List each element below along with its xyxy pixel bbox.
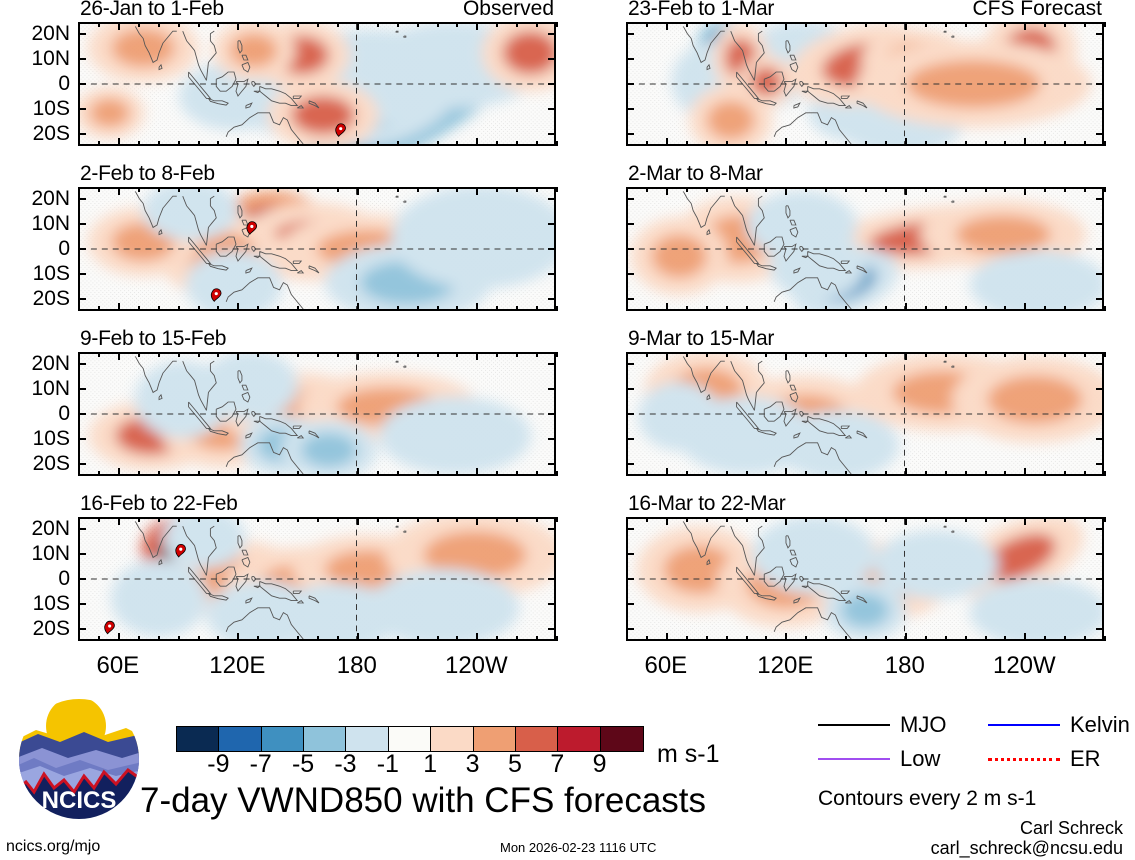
axis-tick <box>626 578 634 580</box>
axis-tick <box>1064 306 1066 311</box>
axis-tick <box>198 141 200 146</box>
axis-tick <box>277 22 279 27</box>
axis-tick <box>825 187 827 192</box>
axis-tick <box>626 133 634 135</box>
y-axis-tick-label: 20S <box>33 453 70 474</box>
axis-tick <box>357 468 359 476</box>
axis-tick <box>706 517 708 522</box>
axis-tick <box>885 306 887 311</box>
y-axis-tick-label: 20S <box>33 288 70 309</box>
panel-title: 2-Feb to 8-Feb <box>80 163 215 184</box>
axis-tick <box>78 578 86 580</box>
colorbar-tick-label: 5 <box>508 750 522 778</box>
axis-tick <box>397 352 399 357</box>
axis-tick <box>297 471 299 476</box>
ncics-logo-text: NCICS <box>42 787 117 814</box>
y-axis-tick-label: 20N <box>31 188 70 209</box>
y-axis-tick-label: 20N <box>31 23 70 44</box>
axis-tick <box>985 187 987 192</box>
axis-tick <box>746 306 748 311</box>
axis-tick <box>98 141 100 146</box>
axis-tick <box>556 517 558 522</box>
axis-tick <box>845 636 847 641</box>
axis-tick <box>785 517 787 525</box>
panel-obs-3: 9-Feb to 15-Feb <box>78 352 556 476</box>
axis-tick <box>1096 273 1104 275</box>
axis-tick <box>297 141 299 146</box>
axis-tick <box>666 517 668 525</box>
axis-tick <box>746 352 748 357</box>
axis-tick <box>78 133 86 135</box>
axis-tick <box>1084 306 1086 311</box>
colorbar-tick-label: 9 <box>593 750 607 778</box>
axis-tick <box>536 517 538 522</box>
axis-tick <box>925 517 927 522</box>
axis-tick <box>1096 198 1104 200</box>
axis-tick <box>397 636 399 641</box>
axis-tick <box>1044 517 1046 522</box>
axis-tick <box>945 22 947 27</box>
y-axis-tick-label: 20S <box>33 618 70 639</box>
axis-tick <box>317 22 319 27</box>
x-axis-tick-label: 60E <box>96 653 139 679</box>
axis-tick <box>1084 352 1086 357</box>
axis-tick <box>78 388 86 390</box>
axis-tick <box>118 138 120 146</box>
axis-tick <box>548 133 556 135</box>
panel-fcst-3: 9-Mar to 15-Mar <box>626 352 1104 476</box>
axis-tick <box>785 633 787 641</box>
axis-tick <box>496 306 498 311</box>
axis-tick <box>536 636 538 641</box>
axis-tick <box>1004 517 1006 522</box>
y-axis-tick-label: 20N <box>31 353 70 374</box>
x-axis-labels: 60E120E180120W <box>78 653 556 679</box>
axis-tick <box>476 138 478 146</box>
axis-tick <box>98 22 100 27</box>
axis-tick <box>548 58 556 60</box>
axis-tick <box>556 471 558 476</box>
axis-tick <box>1044 352 1046 357</box>
axis-tick <box>437 517 439 522</box>
axis-tick <box>337 517 339 522</box>
colorbar-segment <box>304 727 346 751</box>
axis-tick <box>78 223 86 225</box>
axis-tick <box>905 352 907 360</box>
axis-tick <box>905 303 907 311</box>
axis-tick <box>548 33 556 35</box>
axis-tick <box>1096 298 1104 300</box>
axis-tick <box>825 517 827 522</box>
axis-tick <box>666 303 668 311</box>
axis-tick <box>417 306 419 311</box>
axis-tick <box>1084 22 1086 27</box>
axis-tick <box>706 22 708 27</box>
axis-tick <box>237 187 239 195</box>
axis-tick <box>548 553 556 555</box>
panel-fcst-2: 2-Mar to 8-Mar <box>626 187 1104 311</box>
author-email: carl_schreck@ncsu.edu <box>931 838 1123 858</box>
axis-tick <box>496 636 498 641</box>
axis-tick <box>337 636 339 641</box>
axis-tick <box>178 306 180 311</box>
axis-tick <box>548 628 556 630</box>
axis-tick <box>1096 33 1104 35</box>
axis-tick <box>765 22 767 27</box>
axis-tick <box>1004 471 1006 476</box>
axis-tick <box>456 22 458 27</box>
axis-tick <box>548 108 556 110</box>
colorbar-segment <box>558 727 600 751</box>
axis-tick <box>1104 352 1106 357</box>
panel-title: 26-Jan to 1-Feb <box>80 0 224 19</box>
axis-tick <box>626 248 634 250</box>
axis-tick <box>1064 22 1066 27</box>
axis-tick <box>237 22 239 30</box>
legend-label: MJO <box>900 714 946 736</box>
map-area <box>626 517 1104 641</box>
axis-tick <box>78 33 86 35</box>
axis-tick <box>548 223 556 225</box>
axis-tick <box>765 187 767 192</box>
axis-tick <box>666 187 668 195</box>
axis-tick <box>1084 141 1086 146</box>
axis-tick <box>1064 636 1066 641</box>
axis-tick <box>78 471 80 476</box>
axis-tick <box>556 352 558 357</box>
axis-tick <box>965 636 967 641</box>
axis-tick <box>337 306 339 311</box>
axis-tick <box>1096 223 1104 225</box>
colorbar-segment <box>177 727 219 751</box>
axis-tick <box>885 517 887 522</box>
axis-tick <box>905 468 907 476</box>
map-area <box>78 352 556 476</box>
axis-tick <box>1024 187 1026 195</box>
axis-tick <box>805 22 807 27</box>
axis-tick <box>198 22 200 27</box>
axis-tick <box>726 471 728 476</box>
axis-tick <box>476 22 478 30</box>
axis-tick <box>317 471 319 476</box>
axis-tick <box>1096 363 1104 365</box>
axis-tick <box>277 352 279 357</box>
axis-tick <box>456 471 458 476</box>
x-axis-labels: 60E120E180120W <box>626 653 1104 679</box>
axis-tick <box>1044 471 1046 476</box>
axis-tick <box>1096 528 1104 530</box>
axis-tick <box>237 468 239 476</box>
axis-tick <box>217 141 219 146</box>
axis-tick <box>805 352 807 357</box>
axis-tick <box>1004 141 1006 146</box>
map-field <box>80 519 554 639</box>
legend-item-kelvin-x2: Kelvin x2 <box>988 714 1135 736</box>
axis-tick <box>98 352 100 357</box>
axis-tick <box>78 352 80 357</box>
axis-tick <box>925 636 927 641</box>
axis-tick <box>626 517 628 522</box>
axis-tick <box>825 471 827 476</box>
axis-tick <box>417 187 419 192</box>
y-axis-tick-label: 10N <box>31 48 70 69</box>
colorbar-tick-label: -5 <box>292 750 314 778</box>
axis-tick <box>726 636 728 641</box>
colorbar-segment <box>262 727 304 751</box>
axis-tick <box>785 352 787 360</box>
axis-tick <box>985 471 987 476</box>
axis-tick <box>496 22 498 27</box>
axis-tick <box>437 352 439 357</box>
axis-tick <box>905 138 907 146</box>
axis-tick <box>965 22 967 27</box>
axis-tick <box>516 187 518 192</box>
axis-tick <box>925 22 927 27</box>
axis-tick <box>865 22 867 27</box>
axis-tick <box>536 471 538 476</box>
axis-tick <box>556 636 558 641</box>
axis-tick <box>925 471 927 476</box>
axis-tick <box>865 471 867 476</box>
legend-label: Kelvin x2 <box>1070 714 1135 736</box>
axis-tick <box>626 413 634 415</box>
axis-tick <box>985 636 987 641</box>
axis-tick <box>118 303 120 311</box>
axis-tick <box>417 636 419 641</box>
axis-tick <box>357 352 359 360</box>
axis-tick <box>397 471 399 476</box>
x-axis-tick-label: 180 <box>337 653 377 679</box>
axis-tick <box>845 471 847 476</box>
axis-tick <box>257 636 259 641</box>
colorbar <box>176 726 644 752</box>
axis-tick <box>257 306 259 311</box>
axis-tick <box>666 138 668 146</box>
axis-tick <box>476 303 478 311</box>
axis-tick <box>78 273 86 275</box>
axis-tick <box>357 22 359 30</box>
axis-tick <box>496 187 498 192</box>
axis-tick <box>1044 306 1046 311</box>
axis-tick <box>905 517 907 525</box>
colorbar-tick-label: 3 <box>466 750 480 778</box>
author-name: Carl Schreck <box>1020 818 1123 838</box>
axis-tick <box>945 306 947 311</box>
axis-tick <box>78 413 86 415</box>
axis-tick <box>805 471 807 476</box>
axis-tick <box>397 187 399 192</box>
axis-tick <box>646 517 648 522</box>
panel-title: 9-Mar to 15-Mar <box>628 328 774 349</box>
axis-tick <box>825 352 827 357</box>
axis-tick <box>1104 636 1106 641</box>
axis-tick <box>138 187 140 192</box>
axis-tick <box>965 306 967 311</box>
axis-tick <box>765 141 767 146</box>
axis-tick <box>516 141 518 146</box>
axis-tick <box>456 187 458 192</box>
axis-tick <box>646 187 648 192</box>
y-axis-tick-label: 20S <box>33 123 70 144</box>
y-axis-tick-label: 10S <box>33 428 70 449</box>
axis-tick <box>1044 187 1046 192</box>
legend-label: Low <box>900 748 940 770</box>
axis-tick <box>437 22 439 27</box>
colorbar-segment <box>389 727 431 751</box>
axis-tick <box>536 187 538 192</box>
axis-tick <box>1024 352 1026 360</box>
axis-tick <box>377 352 379 357</box>
axis-tick <box>845 306 847 311</box>
axis-tick <box>1096 83 1104 85</box>
axis-tick <box>138 636 140 641</box>
axis-tick <box>138 306 140 311</box>
map-area <box>78 22 556 146</box>
axis-tick <box>666 468 668 476</box>
x-axis-tick-label: 120E <box>757 653 813 679</box>
axis-tick <box>78 83 86 85</box>
axis-tick <box>297 22 299 27</box>
axis-tick <box>626 352 628 357</box>
axis-tick <box>536 306 538 311</box>
axis-tick <box>626 388 634 390</box>
axis-tick <box>476 352 478 360</box>
timestamp: Mon 2026-02-23 1116 UTC <box>500 840 656 855</box>
colorbar-segment <box>601 727 643 751</box>
y-axis-labels: 20N10N010S20S <box>12 22 70 146</box>
map-field <box>628 24 1102 144</box>
y-axis-tick-label: 20N <box>31 518 70 539</box>
legend-item-low: Low <box>818 748 940 770</box>
axis-tick <box>1064 141 1066 146</box>
axis-tick <box>456 352 458 357</box>
axis-tick <box>456 517 458 522</box>
axis-tick <box>417 352 419 357</box>
axis-tick <box>865 352 867 357</box>
axis-tick <box>377 187 379 192</box>
axis-tick <box>536 22 538 27</box>
axis-tick <box>726 22 728 27</box>
axis-tick <box>548 83 556 85</box>
axis-tick <box>1096 578 1104 580</box>
axis-tick <box>198 306 200 311</box>
y-axis-tick-label: 0 <box>58 568 70 589</box>
axis-tick <box>217 187 219 192</box>
axis-tick <box>337 141 339 146</box>
main-title: 7-day VWND850 with CFS forecasts <box>140 782 706 820</box>
panel-obs-4: 16-Feb to 22-Feb <box>78 517 556 641</box>
axis-tick <box>865 636 867 641</box>
axis-tick <box>626 363 634 365</box>
axis-tick <box>536 141 538 146</box>
axis-tick <box>476 633 478 641</box>
colorbar-tick-label: 1 <box>423 750 437 778</box>
axis-tick <box>257 187 259 192</box>
axis-tick <box>1004 187 1006 192</box>
axis-tick <box>765 517 767 522</box>
axis-tick <box>905 633 907 641</box>
x-axis-tick-label: 120E <box>209 653 265 679</box>
axis-tick <box>198 517 200 522</box>
axis-tick <box>785 468 787 476</box>
y-axis-tick-label: 10N <box>31 213 70 234</box>
axis-tick <box>925 306 927 311</box>
axis-tick <box>297 306 299 311</box>
axis-tick <box>1096 603 1104 605</box>
axis-tick <box>1096 58 1104 60</box>
axis-tick <box>158 187 160 192</box>
axis-tick <box>626 223 634 225</box>
axis-tick <box>1104 22 1106 27</box>
axis-tick <box>277 517 279 522</box>
axis-tick <box>178 517 180 522</box>
axis-tick <box>548 528 556 530</box>
axis-tick <box>746 141 748 146</box>
colorbar-tick-label: -7 <box>250 750 272 778</box>
axis-tick <box>686 141 688 146</box>
axis-tick <box>666 22 668 30</box>
axis-tick <box>158 517 160 522</box>
axis-tick <box>646 22 648 27</box>
axis-tick <box>437 636 439 641</box>
axis-tick <box>178 22 180 27</box>
axis-tick <box>985 352 987 357</box>
panel-fcst-4: 16-Mar to 22-Mar <box>626 517 1104 641</box>
axis-tick <box>686 22 688 27</box>
axis-tick <box>456 636 458 641</box>
axis-tick <box>548 438 556 440</box>
axis-tick <box>1084 187 1086 192</box>
axis-tick <box>746 517 748 522</box>
axis-tick <box>1096 388 1104 390</box>
colorbar-segment <box>474 727 516 751</box>
axis-tick <box>765 306 767 311</box>
axis-tick <box>845 517 847 522</box>
axis-tick <box>746 636 748 641</box>
axis-tick <box>237 303 239 311</box>
axis-tick <box>456 141 458 146</box>
y-axis-tick-label: 0 <box>58 238 70 259</box>
axis-tick <box>686 636 688 641</box>
axis-tick <box>1064 352 1066 357</box>
x-axis-tick-label: 120W <box>445 653 508 679</box>
axis-tick <box>198 187 200 192</box>
axis-tick <box>78 198 86 200</box>
axis-tick <box>357 187 359 195</box>
axis-tick <box>297 636 299 641</box>
axis-tick <box>785 187 787 195</box>
axis-tick <box>626 438 634 440</box>
axis-tick <box>626 636 628 641</box>
axis-tick <box>417 22 419 27</box>
panel-title: 9-Feb to 15-Feb <box>80 328 226 349</box>
site-url[interactable]: ncics.org/mjo <box>6 838 100 856</box>
axis-tick <box>277 471 279 476</box>
axis-tick <box>198 471 200 476</box>
axis-tick <box>297 187 299 192</box>
axis-tick <box>626 471 628 476</box>
colorbar-tick-label: -9 <box>207 750 229 778</box>
axis-tick <box>98 306 100 311</box>
axis-tick <box>945 187 947 192</box>
ncics-logo-icon: NCICS <box>16 696 142 822</box>
axis-tick <box>1064 517 1066 522</box>
axis-tick <box>865 187 867 192</box>
axis-tick <box>357 303 359 311</box>
axis-tick <box>985 141 987 146</box>
axis-tick <box>626 463 634 465</box>
axis-tick <box>1104 306 1106 311</box>
